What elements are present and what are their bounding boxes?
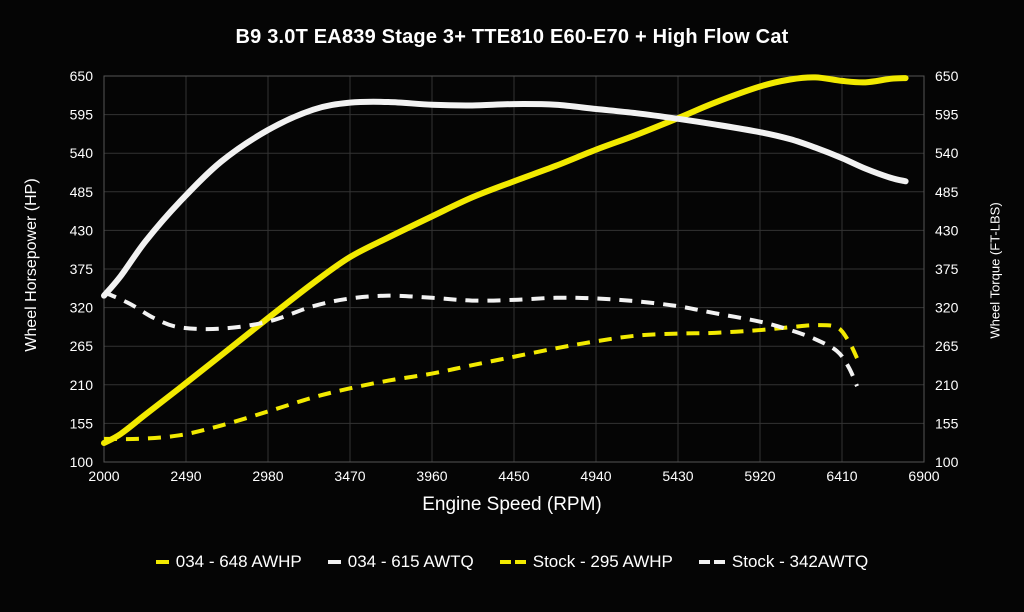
svg-text:320: 320 (935, 300, 959, 316)
grid-lines (104, 76, 924, 462)
legend-swatch-icon (328, 560, 341, 564)
legend-label: 034 - 648 AWHP (176, 552, 302, 572)
svg-text:6900: 6900 (908, 468, 939, 484)
svg-text:540: 540 (70, 145, 94, 161)
svg-text:320: 320 (70, 300, 94, 316)
legend-swatch-icon (500, 560, 526, 564)
legend-item[interactable]: 034 - 648 AWHP (156, 552, 302, 572)
svg-text:4450: 4450 (498, 468, 529, 484)
series-line (104, 292, 857, 386)
svg-text:595: 595 (935, 107, 959, 123)
svg-text:5920: 5920 (744, 468, 775, 484)
svg-text:540: 540 (935, 145, 959, 161)
svg-text:6410: 6410 (826, 468, 857, 484)
legend-dash (699, 560, 710, 564)
svg-text:650: 650 (935, 68, 959, 84)
svg-text:2490: 2490 (170, 468, 201, 484)
svg-text:4940: 4940 (580, 468, 611, 484)
svg-text:430: 430 (70, 222, 94, 238)
svg-text:155: 155 (935, 415, 959, 431)
svg-text:485: 485 (935, 184, 959, 200)
legend-dash (714, 560, 725, 564)
svg-text:375: 375 (935, 261, 959, 277)
svg-text:650: 650 (70, 68, 94, 84)
svg-text:430: 430 (935, 222, 959, 238)
legend-swatch-icon (699, 560, 725, 564)
legend-swatch-icon (156, 560, 169, 564)
dyno-chart: B9 3.0T EA839 Stage 3+ TTE810 E60-E70 + … (0, 0, 1024, 612)
legend-item[interactable]: 034 - 615 AWTQ (328, 552, 474, 572)
svg-text:5430: 5430 (662, 468, 693, 484)
series-line (104, 77, 906, 443)
legend-dash (500, 560, 511, 564)
legend-dash (328, 560, 341, 564)
svg-text:375: 375 (70, 261, 94, 277)
legend-item[interactable]: Stock - 295 AWHP (500, 552, 673, 572)
svg-text:3960: 3960 (416, 468, 447, 484)
legend-label: Stock - 342AWTQ (732, 552, 868, 572)
svg-text:595: 595 (70, 107, 94, 123)
svg-text:2000: 2000 (88, 468, 119, 484)
svg-text:265: 265 (70, 338, 94, 354)
series-line (104, 102, 906, 296)
svg-text:3470: 3470 (334, 468, 365, 484)
chart-legend: 034 - 648 AWHP034 - 615 AWTQStock - 295 … (0, 552, 1024, 572)
svg-text:210: 210 (70, 377, 94, 393)
svg-text:485: 485 (70, 184, 94, 200)
legend-dash (515, 560, 526, 564)
svg-text:2980: 2980 (252, 468, 283, 484)
svg-text:155: 155 (70, 415, 94, 431)
series-line (104, 325, 857, 439)
data-series (104, 77, 906, 443)
legend-label: Stock - 295 AWHP (533, 552, 673, 572)
plot-area: 1001552102653203754304855405956501001552… (0, 0, 1024, 612)
svg-text:265: 265 (935, 338, 959, 354)
legend-item[interactable]: Stock - 342AWTQ (699, 552, 868, 572)
legend-label: 034 - 615 AWTQ (348, 552, 474, 572)
legend-dash (156, 560, 169, 564)
svg-text:210: 210 (935, 377, 959, 393)
